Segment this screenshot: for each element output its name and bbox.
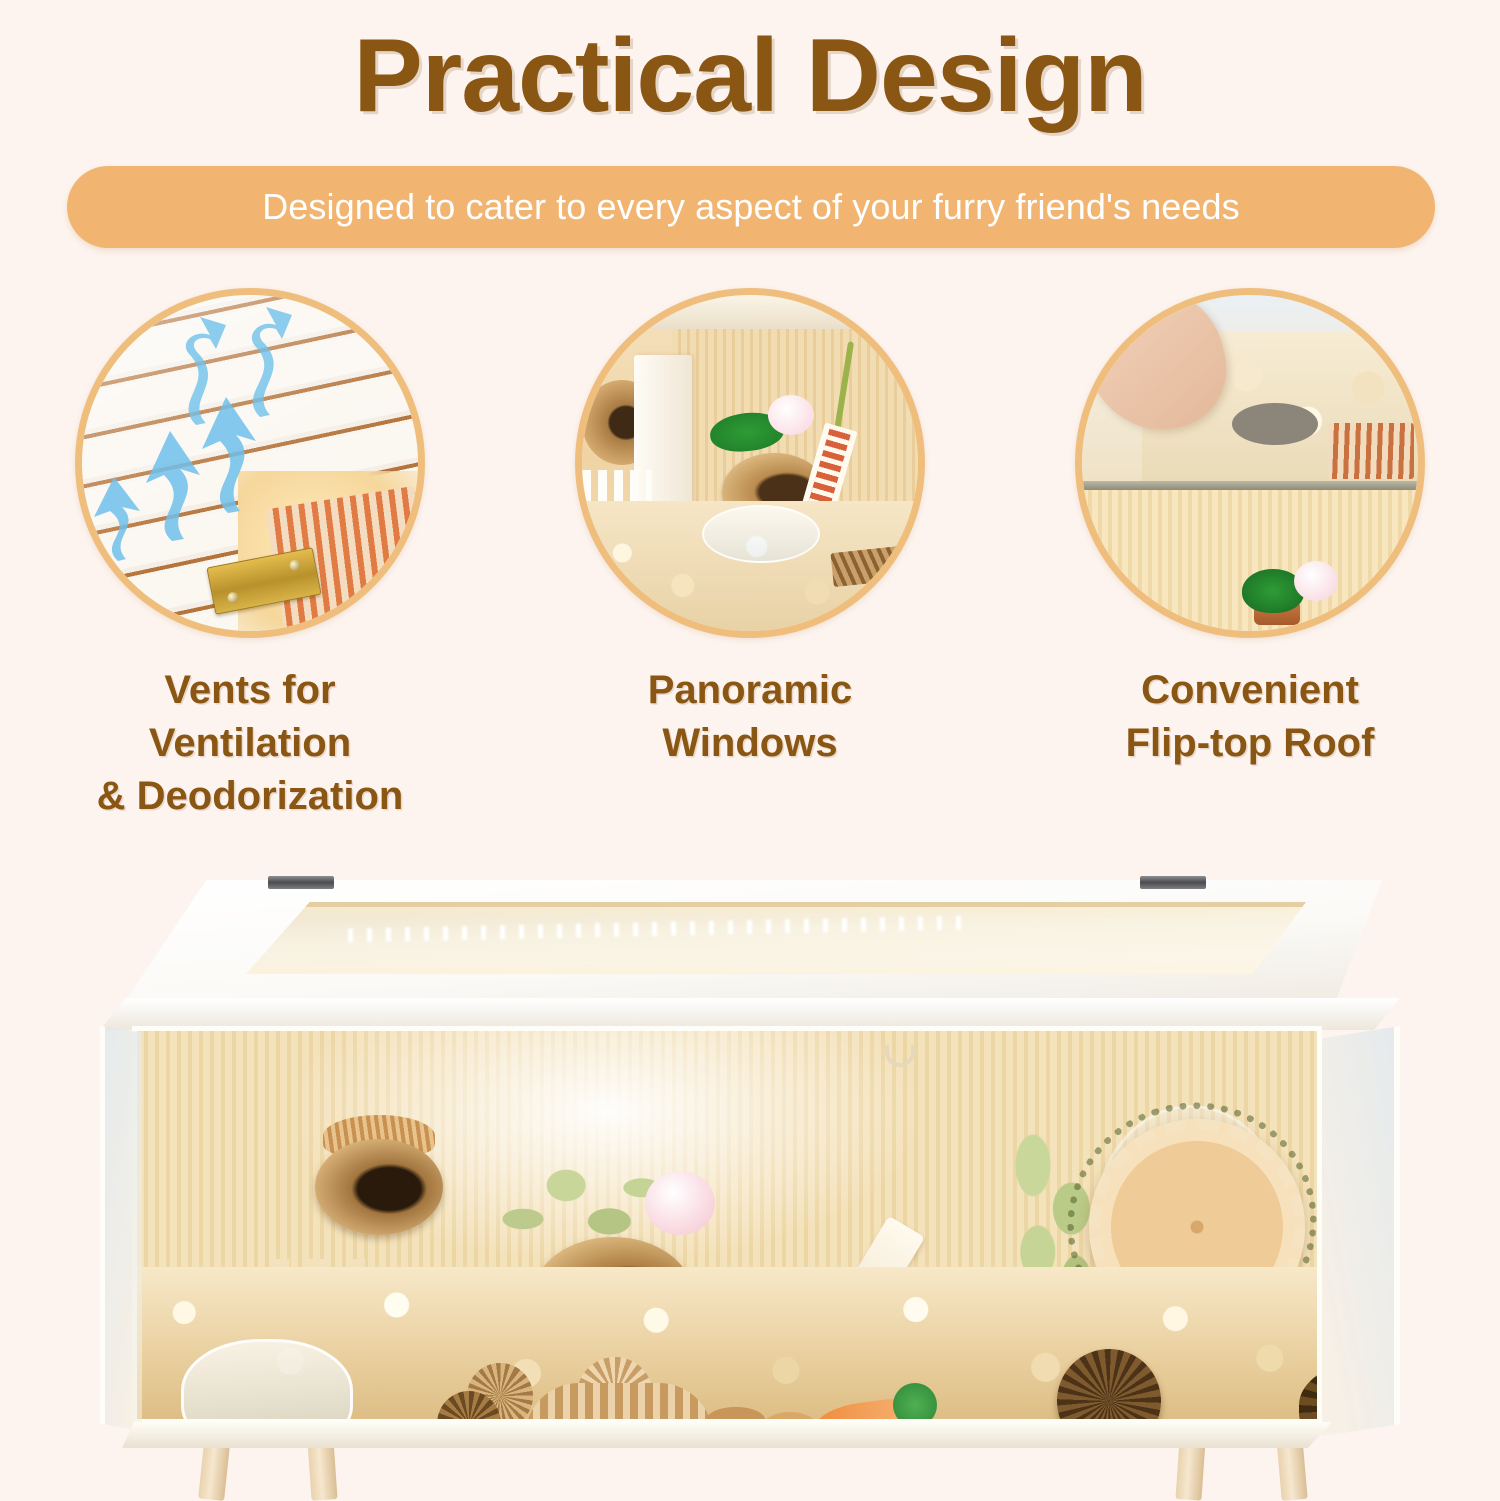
feature-list: Vents for Ventilation & Deodorization	[0, 288, 1500, 822]
subtitle-text: Designed to cater to every aspect of you…	[262, 186, 1240, 228]
flip-top-lid	[118, 880, 1382, 1012]
pink-flower-decor	[1294, 561, 1338, 601]
airflow-arrow-icon	[166, 309, 230, 427]
caption-line-1: Vents for Ventilation	[65, 664, 435, 770]
caption-line-1: Panoramic	[648, 664, 853, 717]
feature-image-ventilation	[75, 288, 425, 638]
feature-item-flip-top-roof: Convenient Flip-top Roof	[1065, 288, 1435, 822]
flip-top-roof-photo	[1082, 295, 1418, 631]
upper-glass-edge	[612, 295, 918, 329]
pink-flower-decor	[645, 1171, 715, 1235]
nest-entrance-hole	[1232, 403, 1318, 445]
product-photo	[0, 800, 1500, 1500]
clear-sand-bath	[702, 505, 820, 563]
wooden-back-wall	[1082, 490, 1418, 631]
cage-base-rail	[122, 1422, 1332, 1448]
feature-caption-flip-top-roof: Convenient Flip-top Roof	[1126, 664, 1375, 770]
lid-hinge-icon	[1140, 876, 1206, 889]
roof-frame-edge	[1082, 481, 1418, 490]
carrot-greens	[893, 1383, 937, 1424]
caption-line-2: Windows	[648, 717, 853, 770]
airflow-vents-photo	[82, 295, 418, 631]
right-side-window	[1322, 1026, 1400, 1436]
caption-line-1: Convenient	[1126, 664, 1375, 717]
feature-image-panoramic-windows	[575, 288, 925, 638]
airflow-arrow-icon	[230, 299, 296, 419]
sand-bath-dome	[181, 1339, 353, 1424]
page-title: Practical Design	[0, 22, 1500, 131]
log-bridge	[525, 1383, 713, 1424]
lid-hinge-icon	[268, 876, 334, 889]
pink-flower-decor	[768, 395, 814, 435]
subtitle-banner: Designed to cater to every aspect of you…	[67, 166, 1435, 248]
front-panoramic-window	[132, 1026, 1322, 1424]
left-side-window	[100, 1026, 142, 1431]
caption-line-2: Flip-top Roof	[1126, 717, 1375, 770]
feature-item-ventilation: Vents for Ventilation & Deodorization	[65, 288, 435, 822]
cage-body	[100, 998, 1400, 1450]
mushroom-chews	[705, 1381, 823, 1424]
feature-item-panoramic-windows: Panoramic Windows	[565, 288, 935, 822]
feature-image-flip-top-roof	[1075, 288, 1425, 638]
panoramic-window-photo	[582, 295, 918, 631]
feature-caption-panoramic-windows: Panoramic Windows	[648, 664, 853, 770]
feature-caption-ventilation: Vents for Ventilation & Deodorization	[65, 664, 435, 822]
striped-accessory	[1328, 423, 1414, 479]
woven-nest	[315, 1139, 443, 1235]
hamster-cage	[100, 880, 1400, 1450]
